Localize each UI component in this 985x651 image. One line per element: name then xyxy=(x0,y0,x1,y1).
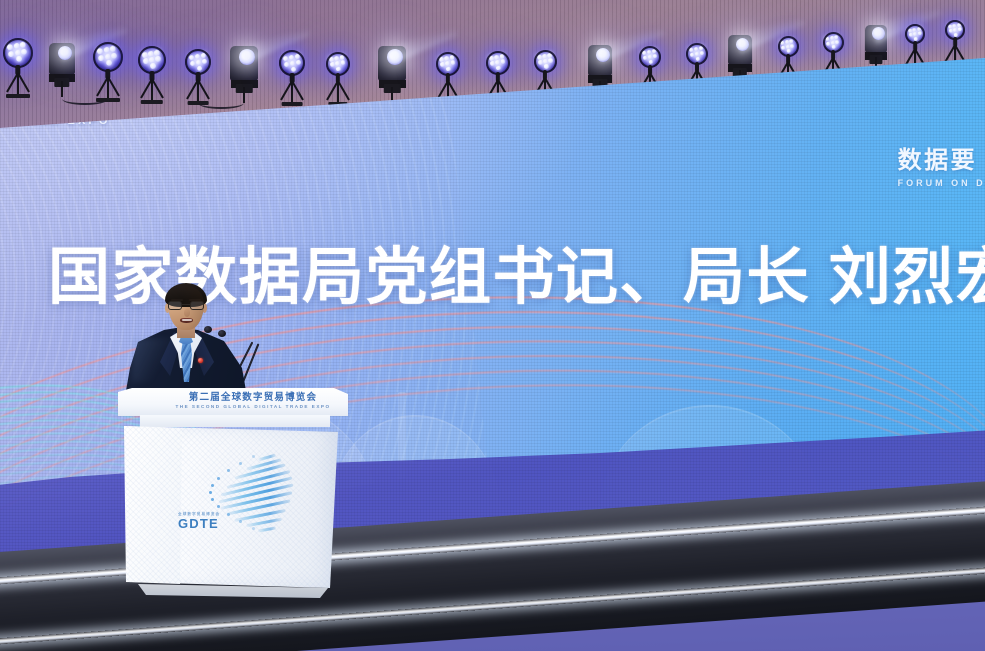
fixture-leg xyxy=(107,77,120,97)
fixture-leg xyxy=(17,73,30,93)
podium-sign: 第二届全球数字贸易博览会 THE SECOND GLOBAL DIGITAL T… xyxy=(168,389,338,409)
gdte-logo-text: GDTE xyxy=(178,517,220,530)
fixture-leg xyxy=(61,81,63,97)
lamp-rim xyxy=(138,46,166,74)
globe-dot xyxy=(211,484,214,487)
speaking-podium: 第二届全球数字贸易博览会 THE SECOND GLOBAL DIGITAL T… xyxy=(118,388,348,600)
globe-stripe xyxy=(258,526,276,532)
fixture-leg xyxy=(243,87,245,103)
fixture-leg xyxy=(291,81,293,103)
fixture-base xyxy=(6,94,30,98)
forum-logo-top-right: 数据要 FORUM ON DAT xyxy=(898,140,985,188)
podium-texture xyxy=(124,426,182,588)
lamp-rim xyxy=(3,38,33,68)
globe-dot xyxy=(211,498,214,501)
face-shading xyxy=(168,286,204,330)
globe-dot xyxy=(252,527,255,530)
globe-dot xyxy=(227,513,230,516)
fixture-leg xyxy=(17,73,19,95)
par-light-fixture xyxy=(3,38,33,102)
globe-dot xyxy=(227,469,230,472)
globe-dot xyxy=(239,520,242,523)
fixture-leg xyxy=(151,79,164,99)
fixture-base xyxy=(282,102,303,106)
globe-dot xyxy=(217,505,220,508)
lapel-pin-icon xyxy=(198,358,203,363)
gdte-wordmark: 全球数字贸易博览会 GDTE xyxy=(178,512,220,530)
globe-dot xyxy=(209,491,212,494)
globe-stripe xyxy=(246,518,282,528)
fixture-leg xyxy=(107,77,109,99)
podium-neck xyxy=(140,415,330,427)
lamp-rim xyxy=(93,42,123,72)
fixture-leg xyxy=(197,80,199,102)
par-light-fixture xyxy=(138,46,166,108)
fixture-leg xyxy=(337,81,339,103)
conference-stage-photo: 贸易博览会 ITAL TRADE EXPO 数据要 FORUM ON DAT 国… xyxy=(0,0,985,651)
globe-dot xyxy=(217,477,220,480)
fixture-leg xyxy=(197,80,210,100)
moving-head-light-fixture xyxy=(229,46,259,110)
par-light-fixture xyxy=(279,50,305,110)
fixture-leg xyxy=(291,81,304,101)
fixture-leg xyxy=(337,81,350,101)
speaker-person xyxy=(120,282,250,400)
fixture-leg xyxy=(151,79,153,101)
globe-dot xyxy=(252,455,255,458)
podium-sign-en: THE SECOND GLOBAL DIGITAL TRADE EXPO xyxy=(168,404,338,409)
globe-dot xyxy=(239,462,242,465)
gdte-globe-icon: 全球数字贸易博览会 GDTE xyxy=(210,450,294,536)
podium-side-panel xyxy=(124,426,182,588)
par-light-fixture xyxy=(93,42,123,106)
fixture-base xyxy=(141,100,163,104)
podium-sign-cn: 第二届全球数字贸易博览会 xyxy=(168,389,338,403)
forum-logo-cn: 数据要 xyxy=(898,140,985,175)
fixture-base xyxy=(96,98,120,102)
forum-logo-en: FORUM ON DAT xyxy=(898,178,985,188)
